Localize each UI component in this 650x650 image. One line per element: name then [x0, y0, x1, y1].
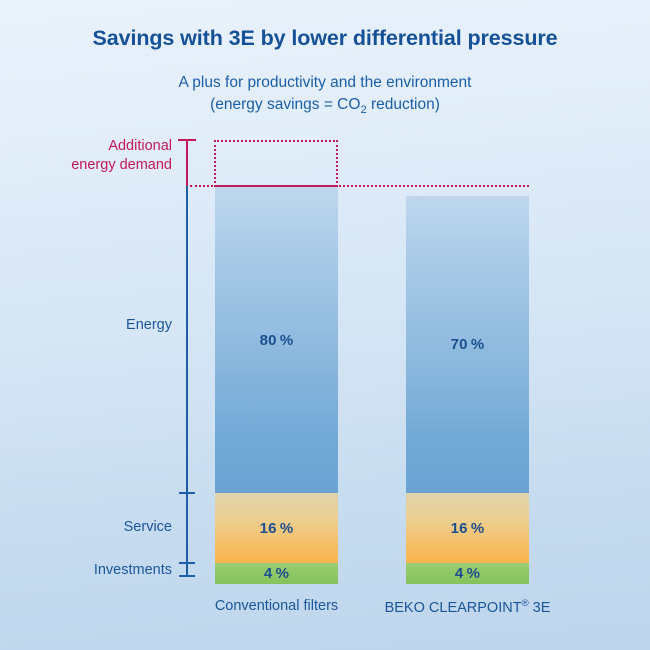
- bar-segment-service-beko: 16 %: [406, 493, 529, 563]
- value-investments-beko: 4 %: [455, 565, 480, 582]
- value-service-beko: 16 %: [451, 520, 485, 537]
- label-additional-line2: energy demand: [71, 157, 172, 173]
- value-service-conventional: 16 %: [260, 520, 294, 537]
- chart-subtitle-line2: (energy savings = CO2 reduction): [0, 94, 650, 121]
- additional-energy-demand-box: [214, 140, 338, 187]
- category-axis-bracket: [186, 186, 188, 576]
- additional-demand-bracket: [186, 139, 188, 186]
- axis-tick-baseline: [179, 575, 195, 577]
- x-axis-label-beko-suffix: 3E: [529, 600, 551, 616]
- x-axis-label-conventional-filters: Conventional filters: [190, 598, 363, 614]
- chart-subtitle-line1: A plus for productivity and the environm…: [179, 74, 472, 91]
- label-additional-line1: Additional: [108, 138, 172, 154]
- axis-tick-service-top: [179, 492, 195, 494]
- x-axis-label-beko-text: BEKO CLEARPOINT: [385, 600, 522, 616]
- bar-segment-investments-conventional: 4 %: [215, 563, 338, 584]
- label-investments: Investments: [12, 562, 172, 578]
- registered-trademark-icon: ®: [522, 598, 529, 609]
- value-energy-conventional: 80 %: [260, 332, 294, 349]
- x-axis-label-beko-clearpoint-3e: BEKO CLEARPOINT® 3E: [372, 598, 563, 616]
- bar-segment-energy-beko: 70 %: [406, 196, 529, 493]
- chart-subtitle: A plus for productivity and the environm…: [0, 72, 650, 121]
- axis-tick-investments-top: [179, 562, 195, 564]
- value-energy-beko: 70 %: [451, 336, 485, 353]
- chart-subtitle-line2-post: reduction): [367, 96, 440, 113]
- label-energy: Energy: [20, 317, 172, 333]
- label-service: Service: [20, 519, 172, 535]
- value-investments-conventional: 4 %: [264, 565, 289, 582]
- chart-subtitle-line2-pre: (energy savings = CO: [210, 96, 360, 113]
- label-additional-energy-demand: Additional energy demand: [20, 137, 172, 175]
- chart-title: Savings with 3E by lower differential pr…: [0, 26, 650, 51]
- bar-segment-service-conventional: 16 %: [215, 493, 338, 563]
- bar-segment-energy-conventional: 80 %: [215, 187, 338, 493]
- chart-canvas: Savings with 3E by lower differential pr…: [0, 0, 650, 650]
- bar-segment-investments-beko: 4 %: [406, 563, 529, 584]
